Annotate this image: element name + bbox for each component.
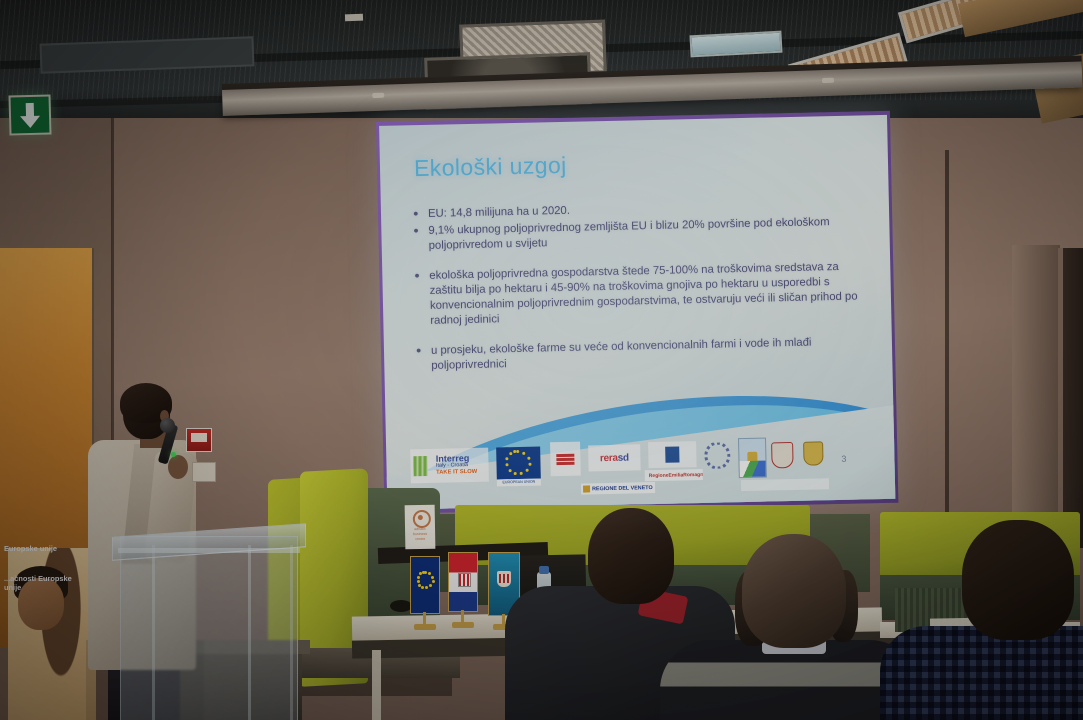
conference-room-photo: Ekološki uzgoj ● EU: 14,8 milijuna ha u … — [0, 0, 1083, 720]
fire-alarm-call-point-icon[interactable] — [186, 428, 212, 452]
fvg-region-logo — [741, 478, 829, 491]
projection-screen: Ekološki uzgoj ● EU: 14,8 milijuna ha u … — [376, 111, 898, 514]
table-tent-text: adriatic business centre — [408, 527, 432, 542]
table-tent-card: adriatic business centre — [405, 505, 436, 550]
bullet-dot-icon: ● — [413, 224, 420, 254]
interreg-tagline: TAKE IT SLOW — [436, 469, 477, 476]
veneto-region-logo: REGIONE DEL VENETO — [581, 482, 655, 495]
desk-microphone-icon — [390, 600, 412, 612]
lectern-edge — [290, 545, 293, 720]
microphone-led-icon — [171, 452, 176, 457]
slide-bullet-list: ● EU: 14,8 milijuna ha u 2020. ● 9,1% uk… — [413, 197, 872, 376]
croatia-flag — [448, 552, 478, 612]
side-door — [1058, 248, 1083, 548]
roll-up-banner: Europske unije ...ačnosti Europske unije… — [0, 248, 94, 648]
emilia-romagna-text: RegioneEmiliaRomagna — [649, 471, 703, 478]
slide-title: Ekološki uzgoj — [414, 146, 834, 182]
microphone-head-icon — [160, 418, 175, 433]
housing-screw — [822, 78, 834, 83]
right-wall-recess — [1012, 245, 1060, 555]
audience-member-head — [962, 520, 1074, 640]
eu-label: EUROPEAN UNION — [497, 478, 541, 486]
exit-sign — [8, 94, 51, 135]
interreg-mark-icon — [413, 456, 427, 476]
wall-control-plate[interactable] — [192, 462, 216, 482]
rosette-logo-icon — [704, 442, 731, 469]
logo-bar — [556, 453, 574, 456]
slide-logo-strip: Interreg Italy - Croatia TAKE IT SLOW — [404, 433, 885, 501]
development-agency-logo — [648, 441, 697, 468]
bullet-text: ekološka poljoprivredna gospodarstva šte… — [429, 259, 870, 329]
logo-bar — [556, 461, 574, 464]
puglia-crest-icon — [802, 440, 825, 466]
veneto-text: REGIONE DEL VENETO — [592, 485, 653, 492]
bottle-cap — [539, 566, 549, 574]
city-crest-icon — [497, 571, 511, 587]
slide-canvas: Ekološki uzgoj ● EU: 14,8 milijuna ha u … — [379, 115, 895, 510]
eu-stars-icon — [417, 571, 433, 587]
bullet-dot-icon: ● — [416, 344, 423, 374]
sd-text: sd — [618, 452, 629, 463]
abruzzo-region-logo — [738, 438, 767, 479]
presenter-hand — [168, 455, 188, 479]
lectern-front-edge — [118, 548, 300, 553]
tent-line-3: centre — [408, 536, 432, 541]
marche-crest-icon — [770, 441, 795, 470]
slide-page-number: 3 — [841, 454, 846, 464]
veneto-lion-icon — [583, 485, 590, 492]
lectern-edge — [152, 545, 155, 720]
eu-flag-logo — [496, 446, 541, 479]
housing-screw — [372, 93, 384, 98]
croatia-checkerboard-icon — [458, 573, 471, 587]
flag-base — [414, 624, 436, 630]
audience-member-head — [588, 508, 674, 604]
regional-authority-logo — [550, 442, 581, 477]
bullet-dot-icon: ● — [414, 269, 421, 329]
european-union-flag — [410, 556, 440, 614]
audience-member-torso — [880, 626, 1083, 720]
glass-lectern: adriatic business centre — [120, 536, 298, 720]
banner-headline: Europske unije — [4, 544, 90, 553]
abruzzo-stripe — [739, 461, 765, 478]
bullet-dot-icon: ● — [413, 207, 419, 222]
rera-text: rera — [600, 452, 618, 463]
eu-label-text: EUROPEAN UNION — [497, 478, 541, 486]
table-leg — [372, 650, 381, 720]
rera-sd-logo: rerasd — [588, 444, 641, 471]
flag-base — [452, 622, 474, 628]
fire-alarm-window — [191, 433, 207, 442]
interreg-logo: Interreg Italy - Croatia TAKE IT SLOW — [410, 448, 489, 484]
eu-stars-icon — [505, 450, 532, 477]
bullet-text: EU: 14,8 milijuna ha u 2020. — [428, 204, 570, 222]
abc-logo-icon — [413, 510, 431, 528]
banner-subline: ...ačnosti Europske unije — [4, 574, 90, 592]
audience-member-head — [742, 534, 846, 648]
emilia-romagna-logo: RegioneEmiliaRomagna — [645, 469, 703, 481]
ceiling-led — [345, 14, 363, 22]
logo-bar — [556, 457, 574, 460]
slide-bullet: ● ekološka poljoprivredna gospodarstva š… — [414, 259, 870, 329]
lectern-edge — [248, 545, 251, 720]
